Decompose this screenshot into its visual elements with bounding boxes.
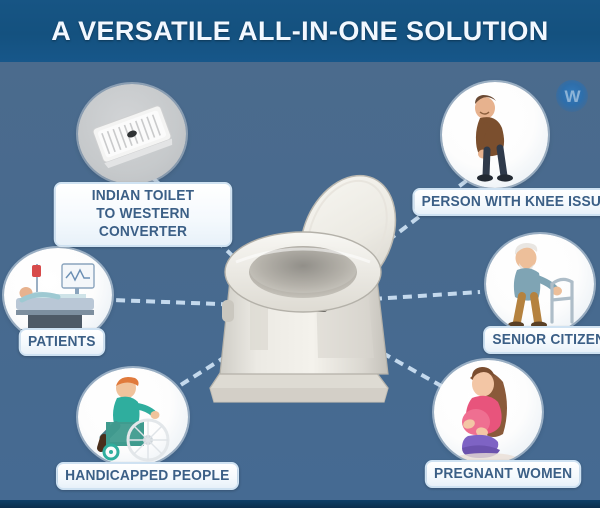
caption-line-1: PREGNANT WOMEN: [434, 465, 572, 482]
caption-knee-issues: PERSON WITH KNEE ISSUES: [412, 188, 600, 216]
caption-line-1: HANDICAPPED PEOPLE: [65, 467, 229, 484]
caption-line-1: PATIENTS: [28, 333, 96, 350]
caption-line-2: TO WESTERN CONVERTER: [96, 205, 190, 240]
caption-line-1: PERSON WITH KNEE ISSUES: [422, 193, 600, 210]
caption-indian-to-western-converter: INDIAN TOILET TO WESTERN CONVERTER: [54, 182, 232, 247]
person-in-wheelchair-icon: [78, 368, 188, 466]
pregnant-woman-icon: [434, 360, 542, 464]
footer-bar: [0, 500, 600, 508]
infographic-root: A VERSATILE ALL-IN-ONE SOLUTION W: [0, 0, 600, 508]
caption-senior-citizens: SENIOR CITIZENS: [483, 326, 600, 354]
caption-line-1: SENIOR CITIZENS: [492, 331, 600, 348]
caption-pregnant-women: PREGNANT WOMEN: [425, 460, 582, 488]
person-with-knee-pain-icon: [442, 82, 548, 188]
caption-handicapped-people: HANDICAPPED PEOPLE: [56, 462, 239, 490]
squat-toilet-pan-icon: [78, 84, 186, 184]
watermark-label: W: [564, 87, 579, 107]
elderly-man-with-walker-icon: [486, 234, 594, 334]
caption-patients: PATIENTS: [19, 328, 105, 356]
caption-line-1: INDIAN TOILET: [92, 187, 195, 204]
brand-watermark-icon: W: [556, 80, 588, 112]
